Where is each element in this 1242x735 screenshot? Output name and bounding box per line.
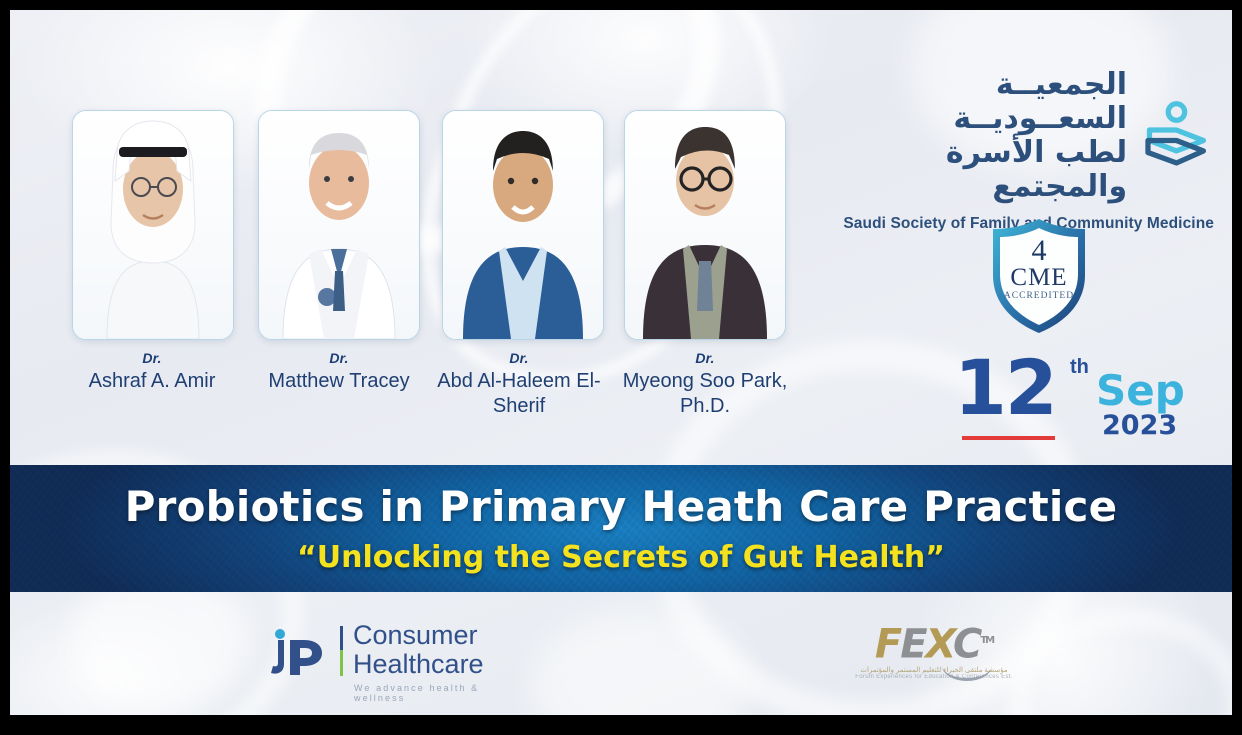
portrait-illustration xyxy=(73,111,233,339)
speaker-name-block: Dr. Ashraf A. Amir xyxy=(57,350,247,394)
speaker-name-block: Dr. Abd Al-Haleem El-Sherif xyxy=(424,350,614,419)
speaker-name: Myeong Soo Park, Ph.D. xyxy=(610,369,800,419)
event-subtitle: “Unlocking the Secrets of Gut Health” xyxy=(297,540,945,575)
sponsor-footer: Consumer Healthcare We advance health & … xyxy=(10,592,1232,715)
fexc-trademark: TM xyxy=(980,635,993,646)
portrait-illustration xyxy=(443,111,603,339)
fexc-letter-f: F xyxy=(875,621,900,667)
society-arabic-line-2: لطب الأسرة والمجتمع xyxy=(836,136,1127,204)
society-arabic-line-1: الجمعيــة السعــوديــة xyxy=(836,68,1127,136)
speaker-name: Matthew Tracey xyxy=(244,369,434,394)
speaker-name-block: Dr. Myeong Soo Park, Ph.D. xyxy=(610,350,800,419)
jp-line-2: Healthcare xyxy=(353,650,484,679)
speaker-name: Abd Al-Haleem El-Sherif xyxy=(424,369,614,419)
title-banner: Probiotics in Primary Heath Care Practic… xyxy=(10,465,1232,592)
portrait-illustration xyxy=(625,111,785,339)
cme-label: CME xyxy=(985,265,1093,291)
speaker-honorific: Dr. xyxy=(244,350,434,366)
speaker-honorific: Dr. xyxy=(424,350,614,366)
fexc-english-caption: Forum Experiences for Education & Confer… xyxy=(834,674,1034,680)
date-ordinal: th xyxy=(1070,356,1089,379)
cme-status: ACCREDITED xyxy=(985,291,1093,301)
speaker-honorific: Dr. xyxy=(57,350,247,366)
event-date: 12 th Sep 2023 xyxy=(950,348,1180,446)
event-poster-slide: Dr. Ashraf A. Amir Dr. Matthew Tracey Dr… xyxy=(10,10,1232,715)
speaker-photo-myeong-soo-park xyxy=(624,110,786,340)
portrait-illustration xyxy=(259,111,419,339)
speaker-photo-ashraf-a-amir xyxy=(72,110,234,340)
date-underline xyxy=(962,436,1055,440)
speaker-photo-matthew-tracey xyxy=(258,110,420,340)
fexc-arabic-caption: مؤسسة ملتقى الخبراء للتعليم المستمر والم… xyxy=(834,666,1034,674)
event-title: Probiotics in Primary Heath Care Practic… xyxy=(125,482,1118,531)
jp-tagline: We advance health & wellness xyxy=(354,683,518,703)
fexc-wordmark: FEXCTM xyxy=(834,620,1034,665)
jp-divider xyxy=(340,626,343,676)
fexc-letter-e: E xyxy=(900,621,925,667)
date-year: 2023 xyxy=(1102,410,1177,441)
jp-line-1: Consumer xyxy=(353,621,484,650)
cme-accreditation-badge: 4 CME ACCREDITED xyxy=(985,215,1093,337)
society-logo-block: الجمعيــة السعــوديــة لطب الأسرة والمجت… xyxy=(836,68,1214,233)
date-month: Sep xyxy=(1096,370,1185,412)
speaker-name-block: Dr. Matthew Tracey xyxy=(244,350,434,394)
cme-credit-count: 4 xyxy=(985,237,1093,265)
date-day: 12 xyxy=(954,348,1056,428)
speaker-photo-row xyxy=(62,110,822,340)
jp-monogram-icon xyxy=(268,628,330,676)
speaker-name: Ashraf A. Amir xyxy=(57,369,247,394)
society-emblem-icon xyxy=(1139,94,1214,178)
sponsor-logo-fexc: FEXCTM مؤسسة ملتقى الخبراء للتعليم المست… xyxy=(834,620,1034,696)
sponsor-logo-jp-consumer-healthcare: Consumer Healthcare We advance health & … xyxy=(268,624,518,694)
speaker-honorific: Dr. xyxy=(610,350,800,366)
speaker-photo-abd-al-haleem-el-sherif xyxy=(442,110,604,340)
